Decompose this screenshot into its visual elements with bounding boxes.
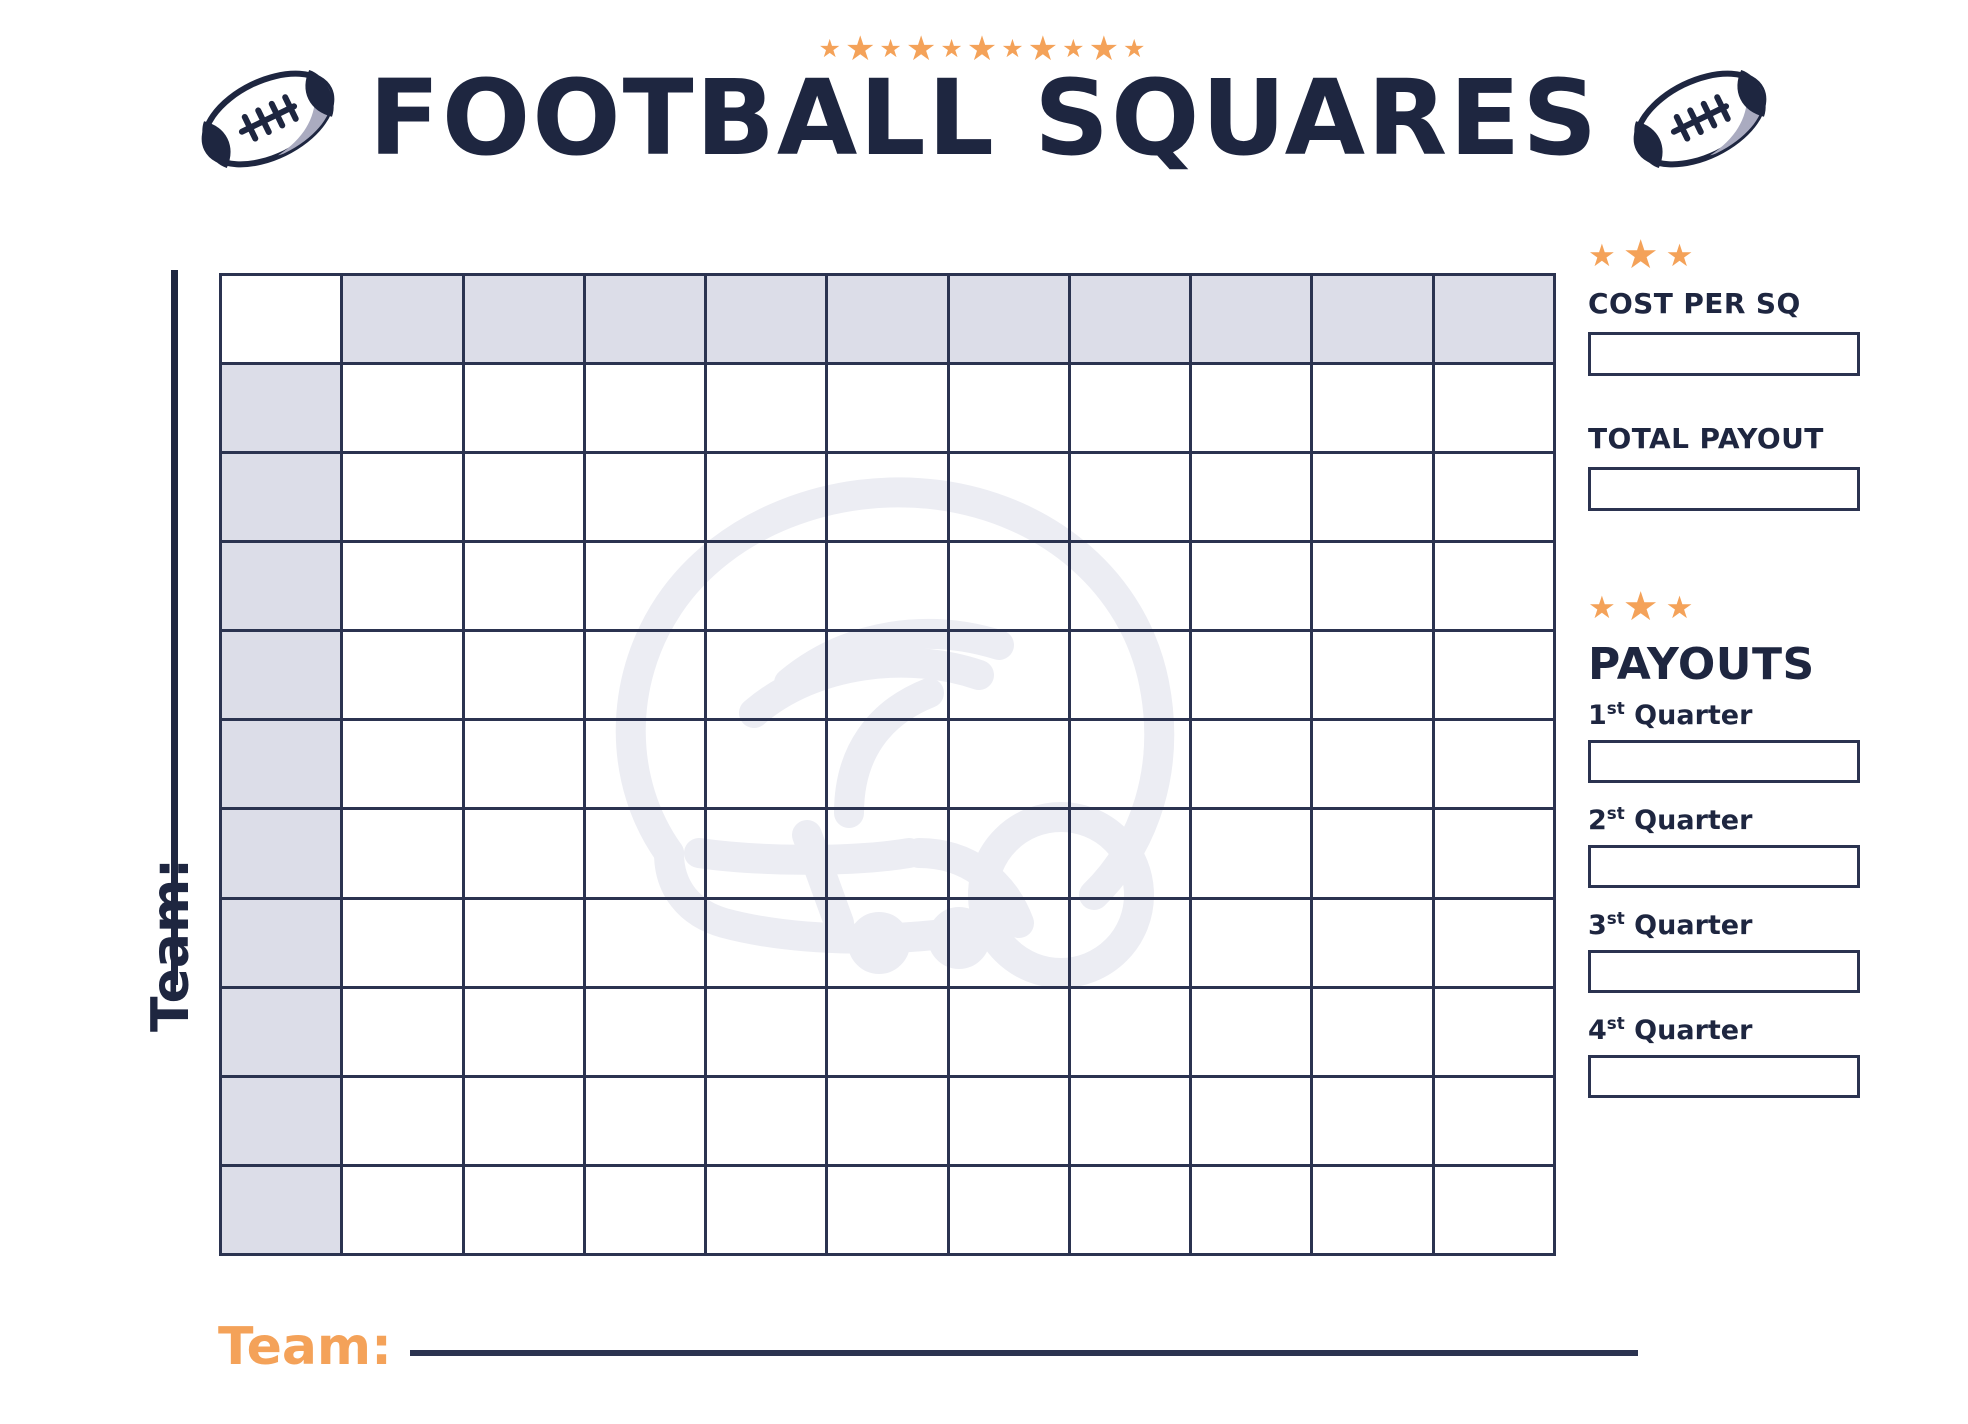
square-cell[interactable] [463, 453, 584, 542]
column-header-cell[interactable] [1312, 275, 1433, 364]
quarter-4-word: Quarter [1634, 1015, 1752, 1046]
quarter-2-word: Quarter [1634, 805, 1752, 836]
square-cell[interactable] [463, 809, 584, 898]
quarter-2-ordinal: st [1607, 803, 1625, 823]
quarter-3-word: Quarter [1634, 910, 1752, 941]
quarter-1-label: 1st Quarter [1588, 700, 1878, 731]
table-row [221, 720, 1555, 809]
square-cell[interactable] [948, 364, 1069, 453]
total-payout-label: TOTAL PAYOUT [1588, 422, 1878, 455]
square-cell[interactable] [1191, 1165, 1312, 1254]
square-cell[interactable] [1069, 542, 1190, 631]
square-cell[interactable] [463, 631, 584, 720]
square-cell[interactable] [1191, 364, 1312, 453]
square-cell[interactable] [1312, 720, 1433, 809]
star-icon: ★ [1666, 240, 1694, 271]
table-row [221, 1076, 1555, 1165]
row-header-cell[interactable] [221, 1076, 342, 1165]
square-cell[interactable] [1433, 898, 1554, 987]
column-header-cell[interactable] [342, 275, 463, 364]
square-cell[interactable] [827, 542, 948, 631]
square-cell[interactable] [584, 1165, 705, 1254]
square-cell[interactable] [827, 631, 948, 720]
column-header-cell[interactable] [1191, 275, 1312, 364]
row-header-cell[interactable] [221, 720, 342, 809]
square-cell[interactable] [827, 720, 948, 809]
square-cell[interactable] [1433, 809, 1554, 898]
square-cell[interactable] [342, 542, 463, 631]
table-row [221, 364, 1555, 453]
square-cell[interactable] [948, 720, 1069, 809]
square-cell[interactable] [948, 1076, 1069, 1165]
square-cell[interactable] [342, 631, 463, 720]
square-cell[interactable] [1191, 542, 1312, 631]
football-squares-sheet: ★★★★★★★★★★★ [0, 0, 1968, 1424]
square-cell[interactable] [706, 987, 827, 1076]
quarter-1-input[interactable] [1588, 740, 1860, 783]
square-cell[interactable] [1312, 809, 1433, 898]
square-cell[interactable] [463, 898, 584, 987]
square-cell[interactable] [1069, 364, 1190, 453]
table-row [221, 275, 1555, 364]
row-header-cell[interactable] [221, 987, 342, 1076]
square-cell[interactable] [706, 809, 827, 898]
square-cell[interactable] [1312, 631, 1433, 720]
square-cell[interactable] [342, 453, 463, 542]
square-cell[interactable] [948, 453, 1069, 542]
star-icon: ★ [1623, 235, 1659, 275]
star-icon: ★ [1588, 240, 1616, 271]
row-header-cell[interactable] [221, 542, 342, 631]
quarter-3-label: 3st Quarter [1588, 910, 1878, 941]
square-cell[interactable] [342, 364, 463, 453]
square-cell[interactable] [948, 987, 1069, 1076]
square-cell[interactable] [1433, 364, 1554, 453]
row-header-cell[interactable] [221, 453, 342, 542]
square-cell[interactable] [706, 453, 827, 542]
square-cell[interactable] [342, 987, 463, 1076]
table-row [221, 631, 1555, 720]
grid-corner-cell [221, 275, 342, 364]
square-cell[interactable] [1433, 453, 1554, 542]
square-cell[interactable] [463, 542, 584, 631]
square-cell[interactable] [1312, 1165, 1433, 1254]
squares-grid[interactable] [219, 273, 1556, 1256]
bottom-team-row: Team: [218, 1317, 1638, 1377]
row-header-cell[interactable] [221, 1165, 342, 1254]
square-cell[interactable] [1069, 453, 1190, 542]
square-cell[interactable] [706, 631, 827, 720]
column-header-cell[interactable] [948, 275, 1069, 364]
star-icon: ★ [1588, 592, 1616, 623]
star-icon: ★ [1623, 587, 1659, 627]
quarter-2-number: 2 [1588, 805, 1607, 836]
table-row [221, 1165, 1555, 1254]
square-cell[interactable] [827, 898, 948, 987]
square-cell[interactable] [1433, 631, 1554, 720]
square-cell[interactable] [1433, 542, 1554, 631]
square-cell[interactable] [342, 1076, 463, 1165]
spacer [1588, 376, 1878, 422]
square-cell[interactable] [1191, 631, 1312, 720]
square-cell[interactable] [584, 453, 705, 542]
column-header-cell[interactable] [706, 275, 827, 364]
square-cell[interactable] [827, 987, 948, 1076]
square-cell[interactable] [342, 720, 463, 809]
square-cell[interactable] [827, 1076, 948, 1165]
square-cell[interactable] [1191, 720, 1312, 809]
main-area: Team: [0, 215, 1968, 1424]
row-header-cell[interactable] [221, 898, 342, 987]
quarter-1-ordinal: st [1607, 698, 1625, 718]
square-cell[interactable] [1433, 987, 1554, 1076]
square-cell[interactable] [948, 809, 1069, 898]
football-icon [1625, 60, 1775, 178]
quarter-4-input[interactable] [1588, 1055, 1860, 1098]
total-payout-input[interactable] [1588, 467, 1860, 511]
table-row [221, 453, 1555, 542]
square-cell[interactable] [1191, 809, 1312, 898]
star-icon: ★ [1666, 592, 1694, 623]
square-cell[interactable] [1312, 542, 1433, 631]
quarter-1-number: 1 [1588, 700, 1607, 731]
square-cell[interactable] [706, 720, 827, 809]
square-cell[interactable] [827, 809, 948, 898]
square-cell[interactable] [1069, 631, 1190, 720]
table-row [221, 809, 1555, 898]
square-cell[interactable] [584, 542, 705, 631]
payouts-heading: PAYOUTS [1588, 639, 1878, 690]
sidebar: ★★★ COST PER SQ TOTAL PAYOUT ★★★ PAYOUTS… [1588, 235, 1878, 1120]
bottom-team-label: Team: [218, 1317, 392, 1377]
quarter-1-word: Quarter [1634, 700, 1752, 731]
square-cell[interactable] [463, 364, 584, 453]
title-block: FOOTBALL SQUARES [0, 60, 1968, 178]
square-cell[interactable] [463, 720, 584, 809]
square-cell[interactable] [827, 1165, 948, 1254]
square-cell[interactable] [584, 898, 705, 987]
quarter-3-number: 3 [1588, 910, 1607, 941]
column-header-cell[interactable] [1433, 275, 1554, 364]
cost-per-sq-input[interactable] [1588, 332, 1860, 376]
quarter-3-input[interactable] [1588, 950, 1860, 993]
square-cell[interactable] [342, 898, 463, 987]
square-cell[interactable] [948, 631, 1069, 720]
quarter-4-label: 4st Quarter [1588, 1015, 1878, 1046]
square-cell[interactable] [463, 987, 584, 1076]
quarter-4-number: 4 [1588, 1015, 1607, 1046]
square-cell[interactable] [948, 898, 1069, 987]
bottom-team-input-rule[interactable] [410, 1350, 1638, 1356]
square-cell[interactable] [1312, 987, 1433, 1076]
row-header-cell[interactable] [221, 364, 342, 453]
square-cell[interactable] [584, 987, 705, 1076]
square-cell[interactable] [463, 1165, 584, 1254]
quarter-4-ordinal: st [1607, 1013, 1625, 1033]
quarter-2-input[interactable] [1588, 845, 1860, 888]
table-row [221, 987, 1555, 1076]
square-cell[interactable] [827, 453, 948, 542]
square-cell[interactable] [1191, 453, 1312, 542]
square-cell[interactable] [1191, 987, 1312, 1076]
column-header-cell[interactable] [827, 275, 948, 364]
square-cell[interactable] [1312, 898, 1433, 987]
square-cell[interactable] [1069, 898, 1190, 987]
square-cell[interactable] [948, 542, 1069, 631]
square-cell[interactable] [584, 720, 705, 809]
square-cell[interactable] [1069, 1076, 1190, 1165]
column-header-cell[interactable] [463, 275, 584, 364]
left-axis: Team: [128, 270, 218, 1255]
squares-grid-body [221, 275, 1555, 1255]
table-row [221, 898, 1555, 987]
column-header-cell[interactable] [584, 275, 705, 364]
square-cell[interactable] [584, 364, 705, 453]
square-cell[interactable] [1069, 1165, 1190, 1254]
header: ★★★★★★★★★★★ [0, 0, 1968, 215]
square-cell[interactable] [1069, 809, 1190, 898]
square-cell[interactable] [463, 1076, 584, 1165]
squares-grid-wrap [219, 273, 1556, 1256]
square-cell[interactable] [706, 1165, 827, 1254]
square-cell[interactable] [584, 1076, 705, 1165]
square-cell[interactable] [584, 631, 705, 720]
square-cell[interactable] [1312, 364, 1433, 453]
square-cell[interactable] [1433, 1165, 1554, 1254]
square-cell[interactable] [706, 898, 827, 987]
square-cell[interactable] [1433, 1076, 1554, 1165]
quarter-2-label: 2st Quarter [1588, 805, 1878, 836]
football-icon [193, 60, 343, 178]
cost-per-sq-label: COST PER SQ [1588, 287, 1878, 320]
cost-section-star-row: ★★★ [1588, 235, 1878, 275]
row-header-cell[interactable] [221, 631, 342, 720]
square-cell[interactable] [1312, 1076, 1433, 1165]
square-cell[interactable] [1433, 720, 1554, 809]
square-cell[interactable] [706, 364, 827, 453]
row-header-cell[interactable] [221, 809, 342, 898]
square-cell[interactable] [342, 809, 463, 898]
square-cell[interactable] [948, 1165, 1069, 1254]
square-cell[interactable] [584, 809, 705, 898]
square-cell[interactable] [706, 1076, 827, 1165]
square-cell[interactable] [1069, 987, 1190, 1076]
square-cell[interactable] [1312, 453, 1433, 542]
square-cell[interactable] [342, 1165, 463, 1254]
square-cell[interactable] [1069, 720, 1190, 809]
square-cell[interactable] [1191, 898, 1312, 987]
square-cell[interactable] [827, 364, 948, 453]
column-header-cell[interactable] [1069, 275, 1190, 364]
vertical-team-label: Team: [141, 840, 201, 1050]
spacer [1588, 511, 1878, 587]
page-title: FOOTBALL SQUARES [369, 64, 1599, 173]
square-cell[interactable] [1191, 1076, 1312, 1165]
square-cell[interactable] [706, 542, 827, 631]
payouts-star-row: ★★★ [1588, 587, 1878, 627]
table-row [221, 542, 1555, 631]
quarter-3-ordinal: st [1607, 908, 1625, 928]
